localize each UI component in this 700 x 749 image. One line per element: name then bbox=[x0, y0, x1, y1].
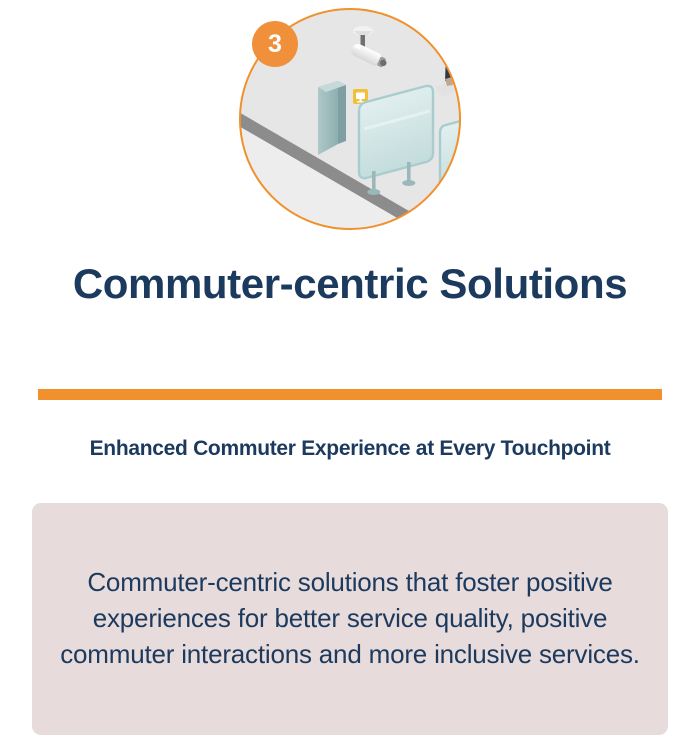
illustration-block: 3 bbox=[0, 0, 700, 240]
step-number-badge: 3 bbox=[252, 21, 298, 67]
description-text: Commuter-centric solutions that foster p… bbox=[32, 565, 668, 673]
description-card: Commuter-centric solutions that foster p… bbox=[32, 503, 668, 735]
circular-illustration: 3 bbox=[239, 8, 461, 230]
accent-divider bbox=[38, 389, 662, 400]
page-subtitle: Enhanced Commuter Experience at Every To… bbox=[30, 437, 670, 461]
page-title: Commuter-centric Solutions bbox=[40, 255, 660, 313]
infographic-card: 3 Commuter-centric Solutions Enhanced Co… bbox=[0, 0, 700, 749]
